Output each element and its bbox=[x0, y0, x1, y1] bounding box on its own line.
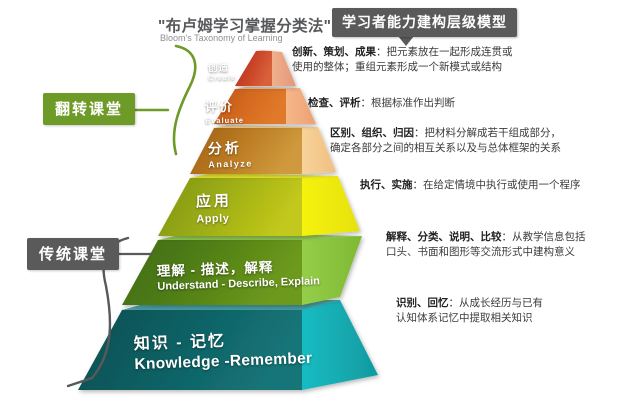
description-apply-lead: 执行、实施 bbox=[360, 179, 413, 191]
description-knowledge-line-1: ：从成长经历与已有 bbox=[449, 297, 544, 309]
pyramid-tier-evaluate[interactable] bbox=[214, 87, 316, 124]
pyramid-tier-knowledge[interactable] bbox=[78, 300, 378, 390]
pyramid-tier-analyze[interactable] bbox=[190, 125, 336, 174]
description-apply-line-1: ：在给定情境中执行或使用一个程序 bbox=[413, 179, 581, 191]
description-apply: 执行、实施：在给定情境中执行或使用一个程序 bbox=[360, 178, 581, 193]
description-understand-line-2: 口头、书面和图形等交流形式中建构意义 bbox=[386, 245, 586, 260]
description-analyze: 区别、组织、归因：把材料分解成若干组成部分， 确定各部分之间的相互关系以及与总体… bbox=[330, 126, 561, 156]
tag-flipped-classroom[interactable]: 翻转课堂 bbox=[43, 93, 135, 125]
description-analyze-line-2: 确定各部分之间的相互关系以及与总体框架的关系 bbox=[330, 141, 561, 156]
description-evaluate: 检查、评析：根据标准作出判断 bbox=[308, 96, 455, 111]
model-banner: 学习者能力建构层级模型 bbox=[332, 8, 517, 37]
description-knowledge-lead: 识别、回忆 bbox=[396, 297, 449, 309]
description-knowledge: 识别、回忆：从成长经历与已有 认知体系记忆中提取相关知识 bbox=[396, 296, 543, 326]
infographic-canvas: "布卢姆学习掌握分类法" Bloom's Taxonomy of Learnin… bbox=[0, 0, 640, 412]
description-create: 创新、策划、成果：把元素放在一起形成连贯或 使用的整体；重组元素形成一个新模式或… bbox=[292, 45, 513, 75]
pyramid-tier-create[interactable] bbox=[235, 50, 296, 86]
pyramid-tier-apply[interactable] bbox=[158, 173, 360, 236]
page-title-en: Bloom's Taxonomy of Learning bbox=[160, 33, 283, 43]
description-understand: 解释、分类、说明、比较：从教学信息包括 口头、书面和图形等交流形式中建构意义 bbox=[386, 230, 586, 260]
description-understand-line-1: ：从教学信息包括 bbox=[502, 231, 586, 243]
tag-traditional-classroom[interactable]: 传统课堂 bbox=[27, 238, 119, 270]
description-create-line-1: ：把元素放在一起形成连贯或 bbox=[376, 46, 513, 58]
description-understand-lead: 解释、分类、说明、比较 bbox=[386, 231, 502, 243]
description-evaluate-lead: 检查、评析 bbox=[308, 97, 361, 109]
description-evaluate-line-1: ：根据标准作出判断 bbox=[361, 97, 456, 109]
description-analyze-lead: 区别、组织、归因 bbox=[330, 127, 414, 139]
flipped-classroom-brace bbox=[174, 46, 195, 154]
description-knowledge-line-2: 认知体系记忆中提取相关知识 bbox=[396, 311, 543, 326]
description-create-line-2: 使用的整体；重组元素形成一个新模式或结构 bbox=[292, 60, 513, 75]
description-create-lead: 创新、策划、成果 bbox=[292, 46, 376, 58]
pyramid-tier-understand[interactable] bbox=[122, 232, 362, 305]
description-analyze-line-1: ：把材料分解成若干组成部分， bbox=[414, 127, 561, 139]
